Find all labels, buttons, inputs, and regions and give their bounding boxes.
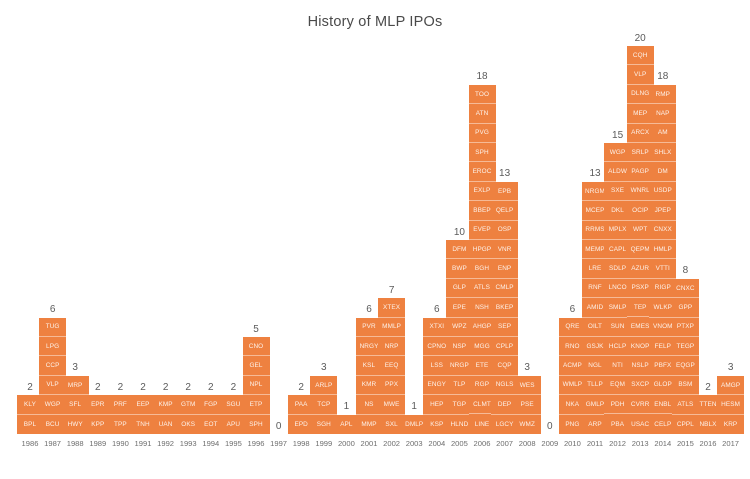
bar-segment-ticker[interactable]: TUG <box>39 318 66 337</box>
bar-segment-ticker[interactable]: XTEX <box>378 298 405 317</box>
bar-value-label: 13 <box>589 167 600 182</box>
bar-value-label: 6 <box>434 303 440 318</box>
bar-segment-ticker[interactable]: CQH <box>627 46 654 65</box>
bar-value-label: 0 <box>276 419 282 434</box>
bar-value-label: 8 <box>683 264 689 279</box>
bar-value-label: 2 <box>208 380 214 395</box>
bar-segment-ticker[interactable]: PTXP <box>672 318 699 337</box>
bar-segment-ticker[interactable]: WES <box>514 376 541 395</box>
bar-column-1996[interactable]: 5CNOGELNPLETPSPH <box>242 322 270 434</box>
x-axis: 1986198719881989199019911992199319941995… <box>8 436 742 456</box>
bar-segment-ticker[interactable]: HMLP <box>649 240 676 259</box>
bar-segment-ticker[interactable]: NAP <box>649 104 676 123</box>
bar-value-label: 1 <box>411 400 417 415</box>
bar-segment-ticker[interactable]: DM <box>649 162 676 181</box>
bar-segment-ticker[interactable]: ARLP <box>310 376 337 395</box>
bar-segment-ticker[interactable]: MMLP <box>378 318 405 337</box>
bar-value-label: 2 <box>705 380 711 395</box>
bar-segment-ticker[interactable]: CPLP <box>491 337 518 356</box>
bar-segment-ticker[interactable]: CMLP <box>491 279 518 298</box>
bar-value-label: 18 <box>657 70 668 85</box>
bar-segment-ticker[interactable]: BKEP <box>491 298 518 317</box>
bar-segment-ticker[interactable]: QELP <box>491 201 518 220</box>
bar-value-label: 2 <box>185 380 191 395</box>
bar-segment-ticker[interactable]: CNO <box>243 337 270 356</box>
bar-segment-stack[interactable]: AMGPHESMKRP <box>717 376 744 434</box>
bar-segment-ticker[interactable]: AMGP <box>717 376 744 395</box>
bar-segment-ticker[interactable]: CNXX <box>649 221 676 240</box>
bar-value-label: 15 <box>612 128 623 143</box>
bar-segment-ticker[interactable]: EQGP <box>672 356 699 375</box>
bar-value-label: 2 <box>163 380 169 395</box>
bar-segment-ticker[interactable]: GPP <box>672 298 699 317</box>
bar-segment-ticker[interactable]: ETP <box>243 395 270 414</box>
bar-value-label: 2 <box>95 380 101 395</box>
bar-value-label: 13 <box>499 167 510 182</box>
bar-segment-ticker[interactable]: PPX <box>378 376 405 395</box>
bar-segment-ticker[interactable]: NRP <box>378 337 405 356</box>
bar-segment-ticker[interactable]: KRP <box>717 415 744 434</box>
bar-value-label: 18 <box>476 70 487 85</box>
bar-value-label: 3 <box>72 361 78 376</box>
bar-segment-ticker[interactable]: TEGP <box>672 337 699 356</box>
bar-chart-plot-area: 2KLYBPL6TUGLPGCCPVLPWGPBCU3MRPSFLHWY2EPR… <box>8 44 742 434</box>
bar-segment-ticker[interactable]: AM <box>649 124 676 143</box>
bar-value-label: 6 <box>570 303 576 318</box>
bar-value-label: 3 <box>321 361 327 376</box>
bar-value-label: 10 <box>454 225 465 240</box>
bar-value-label: 0 <box>547 419 553 434</box>
x-axis-tick-2017: 2017 <box>717 439 745 448</box>
bar-segment-ticker[interactable]: GEL <box>243 356 270 375</box>
bar-value-label: 2 <box>118 380 124 395</box>
bar-value-label: 5 <box>253 322 259 337</box>
bar-value-label: 6 <box>366 303 372 318</box>
bar-value-label: 1 <box>344 400 350 415</box>
bar-value-label: 20 <box>635 31 646 46</box>
bar-segment-ticker[interactable]: RMP <box>649 85 676 104</box>
bar-segment-ticker[interactable]: PVG <box>469 124 496 143</box>
bar-segment-ticker[interactable]: EEQ <box>378 356 405 375</box>
bar-segment-ticker[interactable]: HESM <box>717 395 744 414</box>
bar-segment-ticker[interactable]: USDP <box>649 182 676 201</box>
bar-segment-ticker[interactable]: VNR <box>491 240 518 259</box>
bar-segment-ticker[interactable]: EPB <box>491 182 518 201</box>
bar-value-label: 2 <box>298 380 304 395</box>
bar-segment-ticker[interactable]: SEP <box>491 318 518 337</box>
bar-segment-ticker[interactable]: CNXC <box>672 279 699 298</box>
bar-segment-ticker[interactable]: SPH <box>469 143 496 162</box>
bar-value-label: 3 <box>524 361 530 376</box>
bar-segment-ticker[interactable]: TOO <box>469 85 496 104</box>
bar-segment-ticker[interactable]: ATN <box>469 104 496 123</box>
bar-value-label: 6 <box>50 303 56 318</box>
bar-value-label: 2 <box>27 380 33 395</box>
page-title: History of MLP IPOs <box>0 14 750 30</box>
bar-value-label: 3 <box>728 361 734 376</box>
bar-value-label: 2 <box>231 380 237 395</box>
bar-segment-ticker[interactable]: PSE <box>514 395 541 414</box>
bar-column-2017[interactable]: 3AMGPHESMKRP <box>717 361 745 434</box>
bar-segment-ticker[interactable]: NPL <box>243 376 270 395</box>
bar-segment-ticker[interactable]: JPEP <box>649 201 676 220</box>
bar-segment-ticker[interactable]: ENP <box>491 259 518 278</box>
bar-value-label: 2 <box>140 380 146 395</box>
bar-segment-ticker[interactable]: LPG <box>39 337 66 356</box>
bar-value-label: 7 <box>389 283 395 298</box>
bar-segment-ticker[interactable]: OSP <box>491 221 518 240</box>
bar-segment-ticker[interactable]: SHLX <box>649 143 676 162</box>
